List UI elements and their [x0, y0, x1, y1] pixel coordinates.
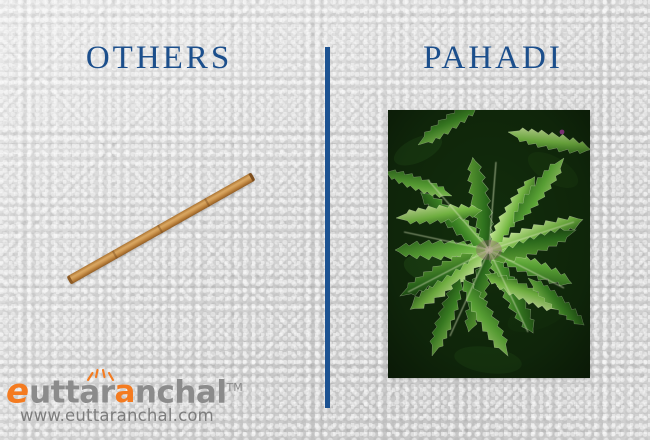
stick-node: [157, 225, 163, 234]
heading-others: OTHERS: [0, 40, 318, 77]
comparison-graphic: OTHERS PAHADI: [0, 0, 650, 440]
logo-text-nchal: nchal: [135, 374, 227, 410]
stick-node: [204, 198, 210, 207]
logo-wordmark: euttaranchalTM: [6, 370, 243, 406]
logo-trademark-mark: TM: [226, 381, 242, 394]
sun-rays-icon: [84, 368, 118, 384]
logo-website-url[interactable]: www.euttaranchal.com: [20, 406, 214, 425]
stick-node: [112, 250, 118, 259]
vertical-divider: [325, 47, 330, 408]
heading-pahadi: PAHADI: [336, 40, 650, 77]
euttaranchal-logo[interactable]: euttaranchalTM www.euttaranchal.com: [6, 370, 221, 432]
wooden-stick: [67, 172, 256, 284]
nettle-plant-photo: [388, 110, 590, 378]
wooden-stick-subject: [55, 170, 270, 295]
